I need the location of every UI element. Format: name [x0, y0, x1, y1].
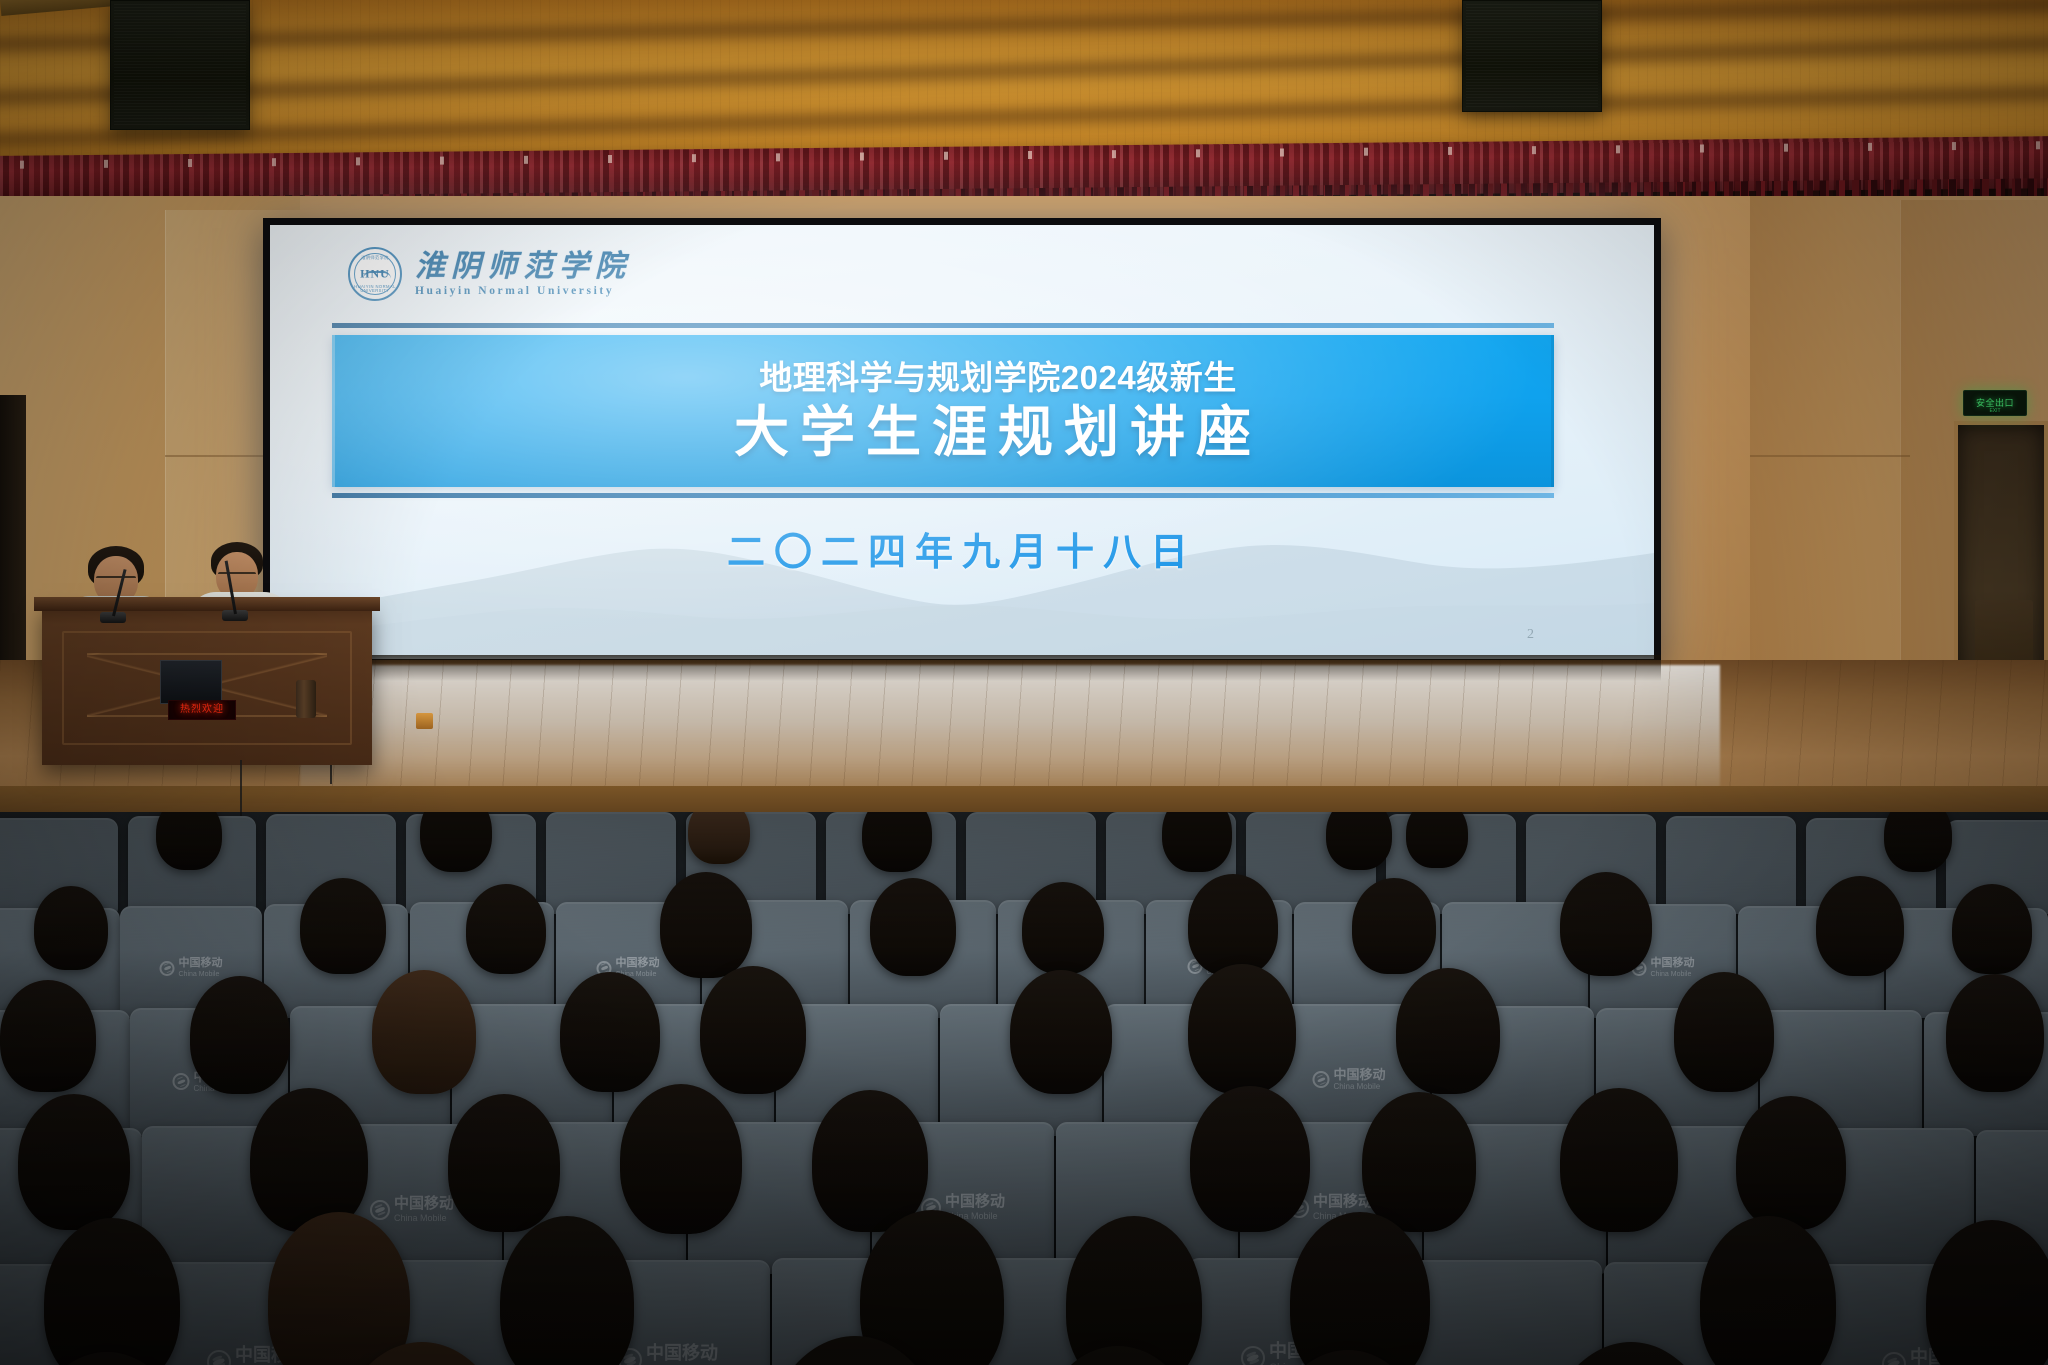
audience-head — [1560, 1088, 1678, 1232]
slide-title-banner: 地理科学与规划学院2024级新生 大学生涯规划讲座 — [332, 335, 1554, 487]
university-name-cn: 淮阴师范学院 — [415, 251, 631, 283]
audience-head — [1396, 968, 1500, 1094]
stage-floor-object — [416, 713, 433, 729]
seat-brand-en: China Mobile — [394, 1214, 454, 1223]
seal-initials: HNU — [350, 267, 400, 282]
audience-head — [156, 812, 222, 870]
audience-head — [1674, 972, 1774, 1092]
audience-head — [1884, 812, 1952, 872]
seat-brand-cn: 中国移动 — [1333, 1068, 1385, 1081]
audience-head — [1816, 876, 1904, 976]
audience-head — [1946, 974, 2044, 1092]
china-mobile-icon — [370, 1200, 390, 1220]
seat-brand-en: China Mobile — [1651, 971, 1695, 978]
audience-head — [620, 1084, 742, 1234]
slide-date: 二〇二四年九月十八日 — [270, 521, 1654, 576]
projection-screen-frame: 淮阴师范学院 HNU HUAIYIN NORMAL UNIVERSITY 淮阴师… — [263, 218, 1661, 666]
audience-head — [862, 812, 932, 872]
china-mobile-icon — [160, 961, 175, 976]
banner-rule-bottom — [332, 493, 1554, 498]
hanging-speaker-left — [110, 0, 250, 130]
audience-head — [1560, 872, 1652, 976]
speaker-left-glasses-icon — [96, 576, 136, 581]
screen-base-shadow — [263, 655, 1661, 681]
audience-head — [1362, 1092, 1476, 1232]
exit-sign-label-en: EXIT — [1964, 408, 2026, 414]
wall-seam — [1750, 455, 1910, 457]
audience-head — [1188, 874, 1278, 976]
seat-brand-logo: 中国移动 China Mobile — [160, 958, 223, 978]
exit-sign: 安全出口 EXIT — [1963, 390, 2027, 416]
table-top-edge — [34, 597, 380, 611]
china-mobile-icon — [1312, 1071, 1329, 1088]
china-mobile-icon — [1882, 1352, 1906, 1365]
seat-brand-cn: 中国移动 — [1313, 1194, 1373, 1209]
audience-head — [1162, 812, 1232, 872]
audience-head — [1352, 878, 1436, 974]
audience-head — [1010, 970, 1112, 1094]
audience-seating-area: 中国移动 China Mobile 中国移动 China Mobile — [0, 812, 2048, 1365]
china-mobile-icon — [207, 1350, 231, 1365]
audience-head — [1022, 882, 1104, 974]
seat-brand-logo: 中国移动 China Mobile — [370, 1196, 454, 1223]
seat-brand-logo: 中国移动 China Mobile — [618, 1344, 718, 1365]
seat-brand-en: China Mobile — [179, 971, 223, 978]
audience-head — [448, 1094, 560, 1232]
audience-head — [660, 872, 752, 978]
microphone-cable — [240, 760, 242, 816]
audience-head — [870, 878, 956, 976]
university-logo-block: 淮阴师范学院 HNU HUAIYIN NORMAL UNIVERSITY 淮阴师… — [348, 247, 631, 301]
audience-head — [190, 976, 290, 1094]
seat[interactable] — [546, 812, 676, 914]
china-mobile-icon — [172, 1073, 189, 1090]
audience-head — [34, 886, 108, 970]
hanging-speaker-right — [1462, 0, 1602, 112]
audience-head — [466, 884, 546, 974]
audience-head — [250, 1088, 368, 1232]
audience-head — [372, 970, 476, 1094]
audience-head — [1406, 812, 1468, 868]
audience-head — [1736, 1096, 1846, 1230]
university-seal-icon: 淮阴师范学院 HNU HUAIYIN NORMAL UNIVERSITY — [348, 247, 402, 301]
seal-arc-text-en: HUAIYIN NORMAL UNIVERSITY — [350, 285, 400, 293]
seal-arc-text-cn: 淮阴师范学院 — [350, 256, 400, 260]
led-scrolling-display: 热烈欢迎 — [168, 700, 236, 720]
seat-brand-logo: 中国移动 China Mobile — [1312, 1068, 1385, 1091]
audience-head — [18, 1094, 130, 1230]
china-mobile-icon — [1241, 1346, 1265, 1365]
presentation-slide: 淮阴师范学院 HNU HUAIYIN NORMAL UNIVERSITY 淮阴师… — [270, 225, 1654, 659]
slide-page-number: 2 — [1527, 627, 1534, 643]
audience-head — [300, 878, 386, 974]
audience-head — [812, 1090, 928, 1232]
audience-head — [1190, 1086, 1310, 1232]
auditorium-photo: 安全出口 EXIT 淮阴师范学院 HNU HUAIYIN NORMAL UNIV… — [0, 0, 2048, 1365]
exit-sign-label-cn: 安全出口 — [1976, 399, 2014, 408]
seat-brand-cn: 中国移动 — [394, 1196, 454, 1211]
seat-brand-cn: 中国移动 — [1651, 958, 1695, 969]
audience-head — [420, 812, 492, 872]
led-display-text: 热烈欢迎 — [180, 705, 224, 715]
audience-head — [688, 812, 750, 864]
banner-rule-top — [332, 323, 1554, 328]
thermos-cup — [296, 680, 316, 718]
laptop[interactable] — [160, 660, 222, 704]
seat[interactable] — [1666, 816, 1796, 914]
seat-brand-cn: 中国移动 — [945, 1194, 1005, 1209]
audience-head — [1188, 964, 1296, 1094]
university-name-en: Huaiyin Normal University — [415, 285, 631, 297]
speaker-right-glasses-icon — [218, 572, 256, 577]
slide-title: 大学生涯规划讲座 — [734, 401, 1262, 464]
seat-brand-cn: 中国移动 — [179, 958, 223, 969]
left-alcove-shadow — [0, 395, 26, 695]
audience-head — [1326, 812, 1392, 870]
audience-head — [0, 980, 96, 1092]
seat-brand-en: China Mobile — [1333, 1083, 1385, 1091]
audience-head — [1952, 884, 2032, 974]
audience-head — [560, 972, 660, 1092]
slide-subtitle: 地理科学与规划学院2024级新生 — [759, 358, 1236, 398]
seat-brand-cn: 中国移动 — [616, 958, 660, 969]
audience-head — [700, 966, 806, 1094]
seat-brand-cn: 中国移动 — [646, 1344, 718, 1362]
